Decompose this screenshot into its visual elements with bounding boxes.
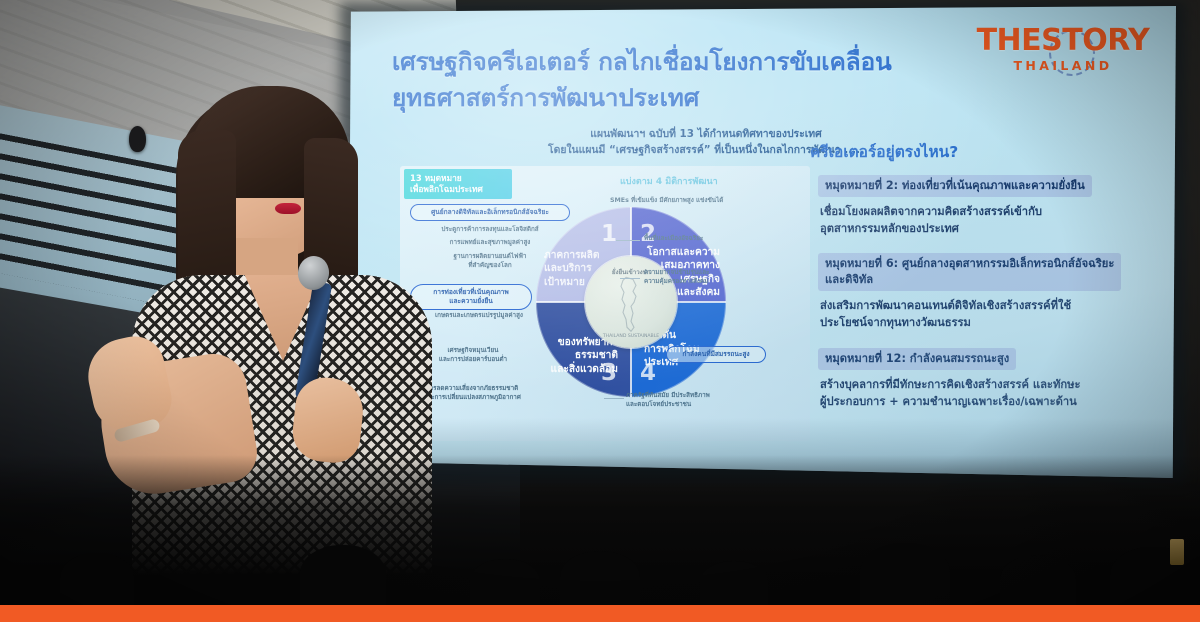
right-item-2-body: ส่งเสริมการพัฒนาคอนเทนต์ดิจิทัลเชิงสร้าง… [820,298,1138,332]
presentation-slide: เศรษฐกิจครีเอเตอร์ กลไกเชื่อมโยงการขับเค… [348,6,1176,478]
right-item-2-chip: หมุดหมายที่ 6: ศูนย์กลางอุตสาหกรรมอิเล็ก… [818,253,1121,291]
right-label-smart-city: พื้นที่และเมืองอัจฉริยะ [644,234,764,243]
audience-head [700,561,768,605]
leader-line-social [620,278,640,279]
audience-head [300,545,386,605]
audience-head [560,551,640,605]
right-label-modern-government: ภาครัฐที่ทันสมัย มีประสิทธิภาพและตอบโจทย… [626,391,766,410]
right-column: หมุดหมายที่ 2: ท่องเที่ยวที่เน้นคุณภาพแล… [818,174,1138,426]
speaker-lips [275,203,301,214]
logo-subtitle: THAILAND [974,58,1152,73]
right-item-3-chip: หมุดหมายที่ 12: กำลังคนสมรรถนะสูง [818,348,1016,370]
leader-line-government [604,398,624,399]
audience-head [860,543,950,605]
headline-line-2: ยุทธศาสตร์การพัฒนาประเทศ [392,80,952,116]
audience-silhouettes [0,455,1200,605]
audience-head [1000,555,1076,605]
projection-screen: เศรษฐกิจครีเอเตอร์ กลไกเชื่อมโยงการขับเค… [348,6,1176,478]
footer-accent-bar [0,605,1200,622]
right-item-1-body: เชื่อมโยงผลผลิตจากความคิดสร้างสรรค์เข้าก… [820,204,1138,238]
leader-line-smart-city [616,240,640,241]
right-item-2: หมุดหมายที่ 6: ศูนย์กลางอุตสาหกรรมอิเล็ก… [818,253,1138,332]
audience-phone-screen [1170,539,1184,565]
right-item-3-body: สร้างบุคลากรที่มีทักษะการคิดเชิงสร้างสรร… [820,377,1138,411]
screenshot-stage: เศรษฐกิจครีเอเตอร์ กลไกเชื่อมโยงการขับเค… [0,0,1200,622]
audience-head [470,559,540,605]
logo-wordmark: THESTORY [974,26,1152,56]
right-item-3: หมุดหมายที่ 12: กำลังคนสมรรถนะสูง สร้างบ… [818,347,1138,411]
diagram-dimensions-header: แบ่งตาม 4 มิติการพัฒนา [620,174,718,188]
audience-head [60,553,134,605]
headline-line-1: เศรษฐกิจครีเอเตอร์ กลไกเชื่อมโยงการขับเค… [392,44,952,80]
slide-right-question: ครีเอเตอร์อยู่ตรงไหน? [810,139,958,164]
highlight-pill-high-competency-workforce: กำลังคนที่มีสมรรถนะสูง [666,346,766,363]
right-item-1: หมุดหมายที่ 2: ท่องเที่ยวที่เน้นคุณภาพแล… [818,174,1138,238]
right-label-social-protection: ความยากจนข้ามรุ่นและความคุ้มครองทางสังคม [644,268,768,287]
slide-headline: เศรษฐกิจครีเอเตอร์ กลไกเชื่อมโยงการขับเค… [392,44,952,116]
right-label-smes: SMEs ที่เข้มแข็ง มีศักยภาพสูง แข่งขันได้ [610,196,770,205]
hub-bottom-text: THAILAND SUSTAINABLE [585,334,677,339]
thestory-thailand-logo: THESTORY THAILAND [974,26,1152,88]
quadrant-1-number: 1 [601,221,617,247]
right-item-1-chip: หมุดหมายที่ 2: ท่องเที่ยวที่เน้นคุณภาพแล… [818,175,1092,197]
